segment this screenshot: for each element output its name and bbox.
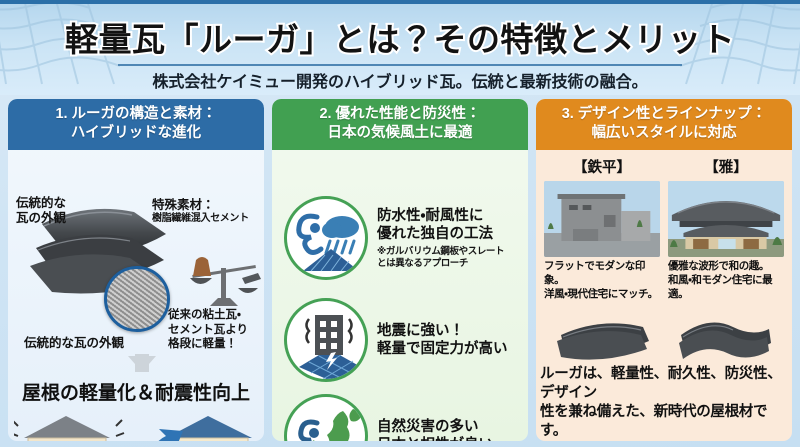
feature1-note: ※ガルバリウム鋼板やスレートとは異なるアプローチ: [377, 246, 504, 270]
wave-tile-icon: [673, 305, 777, 367]
heavy-tiled-house-icon: [14, 416, 124, 441]
banner-divider: [118, 64, 682, 66]
panel1-result-text: 屋根の軽量化＆耐震性向上: [8, 378, 264, 405]
panel3-heading-line1: 3. デザイン性とラインナップ：: [562, 106, 767, 122]
feature-earthquake-resistant: 地震に強い！軽量で固定力が高い: [284, 298, 508, 382]
style-item-miyabi: 【雅】: [668, 156, 784, 301]
feature1-text: 防水性・耐風性に優れた独自の工法 ※ガルバリウム鋼板やスレートとは異なるアプロー…: [377, 207, 504, 270]
label-much-lighter: 従来の粘土瓦・セメント瓦より格段に軽量！: [168, 308, 248, 351]
style-item-teppei: 【鉄平】: [544, 156, 660, 301]
panel3-heading-line2: 幅広いスタイルに対応: [592, 125, 737, 141]
modern-flat-house-photo: [544, 181, 660, 257]
style-columns: 【鉄平】: [536, 150, 792, 301]
panel1-heading: 1. ルーガの構造と素材： ハイブリッドな進化: [8, 99, 264, 150]
panel1-body: 伝統的な瓦の外観 特殊素材： 樹脂繊維混入セメント: [8, 150, 264, 441]
label-traditional-appearance-top: 伝統的な瓦の外観: [16, 196, 66, 226]
label-special-material: 特殊素材： 樹脂繊維混入セメント: [152, 198, 249, 225]
feature2-text: 地震に強い！軽量で固定力が高い: [377, 322, 508, 359]
label-traditional-appearance-bottom: 伝統的な瓦の外観: [24, 336, 124, 351]
page-title: 軽量瓦「ルーガ」とは？その特徴とメリット: [0, 13, 800, 61]
typhoon-rain-roof-icon: [284, 196, 368, 280]
style-name-miyabi: 【雅】: [668, 156, 784, 177]
traditional-japanese-house-photo: [668, 181, 784, 257]
feature-waterproof-windproof: 防水性・耐風性に優れた独自の工法 ※ガルバリウム鋼板やスレートとは異なるアプロー…: [284, 196, 504, 280]
style-name-teppei: 【鉄平】: [544, 156, 660, 177]
panel-structure-material: 1. ルーガの構造と素材： ハイブリッドな進化: [8, 99, 264, 441]
style-caption-miyabi: 優雅な波形で和の趣。和風・和モダン住宅に最適。: [668, 260, 784, 301]
panel2-body: 防水性・耐風性に優れた独自の工法 ※ガルバリウム鋼板やスレートとは異なるアプロー…: [272, 150, 528, 441]
earthquake-building-icon: [284, 298, 368, 382]
panel1-heading-line2: ハイブリッドな進化: [71, 125, 201, 141]
panel2-heading-line1: 2. 優れた性能と防災性：: [319, 106, 480, 122]
japan-map-disaster-icon: [284, 394, 368, 441]
panel-performance-disaster: 2. 優れた性能と防災性： 日本の気候風土に最適: [272, 99, 528, 441]
house-comparison-illustration: [14, 408, 264, 441]
panel2-heading: 2. 優れた性能と防災性： 日本の気候風土に最適: [272, 99, 528, 150]
header-banner: 軽量瓦「ルーガ」とは？その特徴とメリット 株式会社ケイミュー開発のハイブリッド瓦…: [0, 0, 800, 95]
tile-samples: [536, 305, 792, 367]
panel3-footer-text: ルーガは、軽量性、耐久性、防災性、デザイン性を兼ね備えた、新時代の屋根材です。: [540, 365, 794, 442]
style-caption-teppei: フラットでモダンな印象。洋風・現代住宅にマッチ。: [544, 260, 660, 301]
infographic-page: 軽量瓦「ルーガ」とは？その特徴とメリット 株式会社ケイミュー開発のハイブリッド瓦…: [0, 0, 800, 447]
feature-japan-compatibility: 自然災害の多い日本と相性が良い: [284, 394, 493, 441]
panel3-heading: 3. デザイン性とラインナップ： 幅広いスタイルに対応: [536, 99, 792, 150]
balance-scale-icon: [184, 254, 264, 316]
feature3-text: 自然災害の多い日本と相性が良い: [377, 418, 493, 441]
page-subtitle: 株式会社ケイミュー開発のハイブリッド瓦。伝統と最新技術の融合。: [0, 68, 800, 92]
flat-tile-icon: [551, 305, 655, 367]
blue-curved-arrow-icon: [144, 429, 183, 441]
fiber-closeup-icon: [104, 266, 170, 332]
panel2-heading-line2: 日本の気候風土に最適: [328, 125, 473, 141]
down-arrow-icon: [128, 356, 156, 372]
panel1-heading-line1: 1. ルーガの構造と素材：: [55, 106, 216, 122]
